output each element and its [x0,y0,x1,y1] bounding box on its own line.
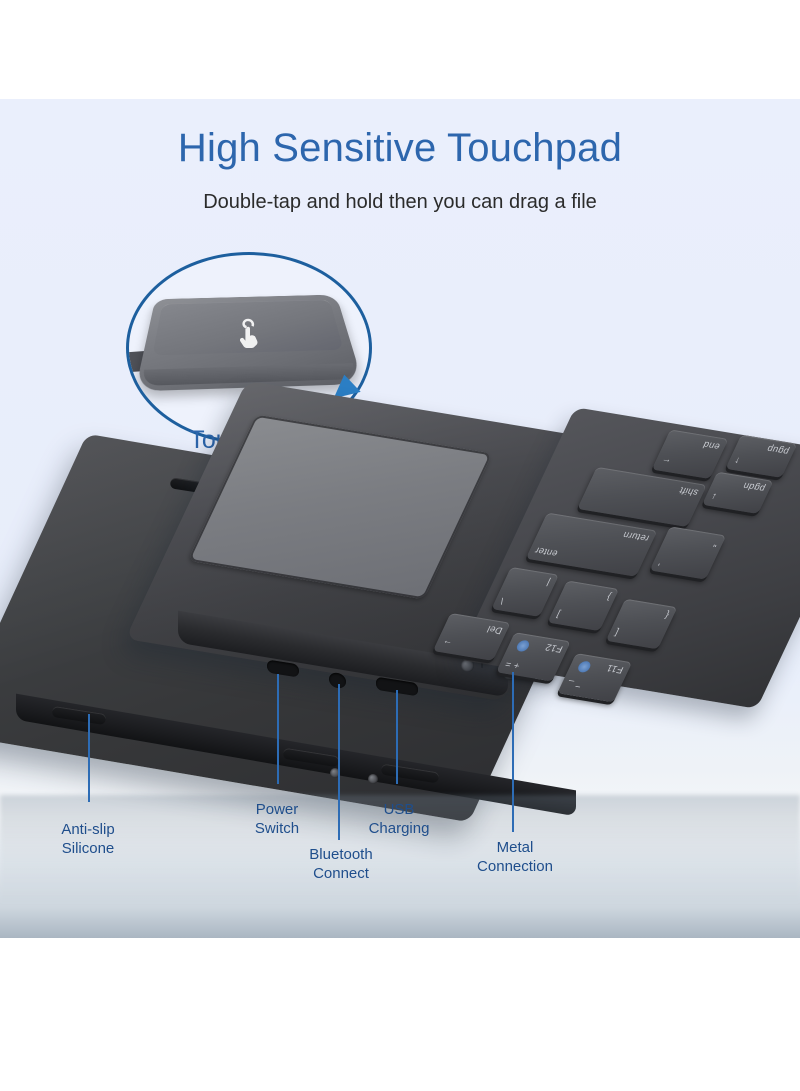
callout-bluetooth-line2: Connect [278,864,404,883]
callout-metal-line1: Metal [452,838,578,857]
key-pgdn-label: pgdn [741,481,767,495]
key-enter-label: enter [533,545,560,559]
key-pgup-label: pgup [765,444,791,458]
callout-bluetooth-connect: Bluetooth Connect [278,845,404,883]
callout-anti-slip-line2: Silicone [28,839,148,858]
f11-volume-down-icon [576,660,592,673]
callout-anti-slip-silicone: Anti-slip Silicone [28,820,148,858]
infographic-canvas: High Sensitive Touchpad Double-tap and h… [0,0,800,1091]
callout-metal-connection: Metal Connection [452,838,578,876]
key-f11[interactable]: F11 − _ [557,653,632,702]
callout-anti-slip-line1: Anti-slip [28,820,148,839]
leader-line-power [277,674,279,784]
key-brace-left-sub: [ [613,628,621,638]
key-brace-right[interactable]: } ] [547,580,619,631]
key-end-sub: ← [659,456,673,468]
key-enter-sub: return [621,530,651,544]
leader-line-usb [396,690,398,784]
key-brace-right-sub: ] [554,609,562,619]
key-f11-sub: − _ [564,680,582,692]
product-photo: end ← pgup ↑ pgdn ↓ shift return enter "… [0,390,800,810]
callout-metal-line2: Connection [452,857,578,876]
base-screw [368,774,378,784]
callout-usb-line1: USB [344,800,454,819]
key-del-sub: → [440,638,454,650]
leader-line-bluetooth [338,684,340,840]
key-f12-sub: + = [503,659,522,671]
key-brace-left-main: { [663,610,671,621]
tap-hand-gesture-icon [234,317,264,351]
leader-line-metal [512,672,514,832]
callout-power-line1: Power [217,800,337,819]
key-shift-label: shift [677,485,700,498]
callout-power-switch: Power Switch [217,800,337,838]
key-pipe-main: | [545,578,552,588]
key-quote-main: " [711,538,719,549]
key-pgup-sub: ↑ [732,455,742,466]
page-title: High Sensitive Touchpad [0,124,800,172]
key-pipe[interactable]: | \ [491,567,559,617]
key-pgdn-sub: ↓ [709,491,719,502]
leader-line-anti-slip [88,714,90,802]
key-f12-label: F12 [543,642,564,655]
key-quote-sub: ' [656,557,663,567]
callout-bluetooth-line1: Bluetooth [278,845,404,864]
page-subtitle: Double-tap and hold then you can drag a … [0,188,800,216]
key-pipe-sub: \ [498,596,506,606]
key-pgdn[interactable]: pgdn ↓ [702,472,774,514]
key-enter[interactable]: return enter [526,513,658,577]
background-top-band [0,0,800,99]
key-end[interactable]: end ← [652,429,729,479]
callout-usb-line2: Charging [344,819,454,838]
key-pgup[interactable]: pgup ↑ [725,435,797,478]
key-brace-left[interactable]: { [ [606,599,678,650]
key-brace-right-main: } [604,592,612,603]
key-quote[interactable]: " ' [650,526,727,579]
key-end-label: end [701,440,722,453]
callout-power-line2: Switch [217,819,337,838]
callout-usb-charging: USB Charging [344,800,454,838]
key-del-label: Del [485,624,504,636]
magnified-touchpad-lip [141,363,358,386]
key-shift[interactable]: shift [577,467,707,527]
key-f11-label: F11 [605,663,625,676]
background-bottom-band [0,938,800,1091]
f12-volume-up-icon [515,640,531,653]
key-f12[interactable]: F12 + = [496,632,571,681]
